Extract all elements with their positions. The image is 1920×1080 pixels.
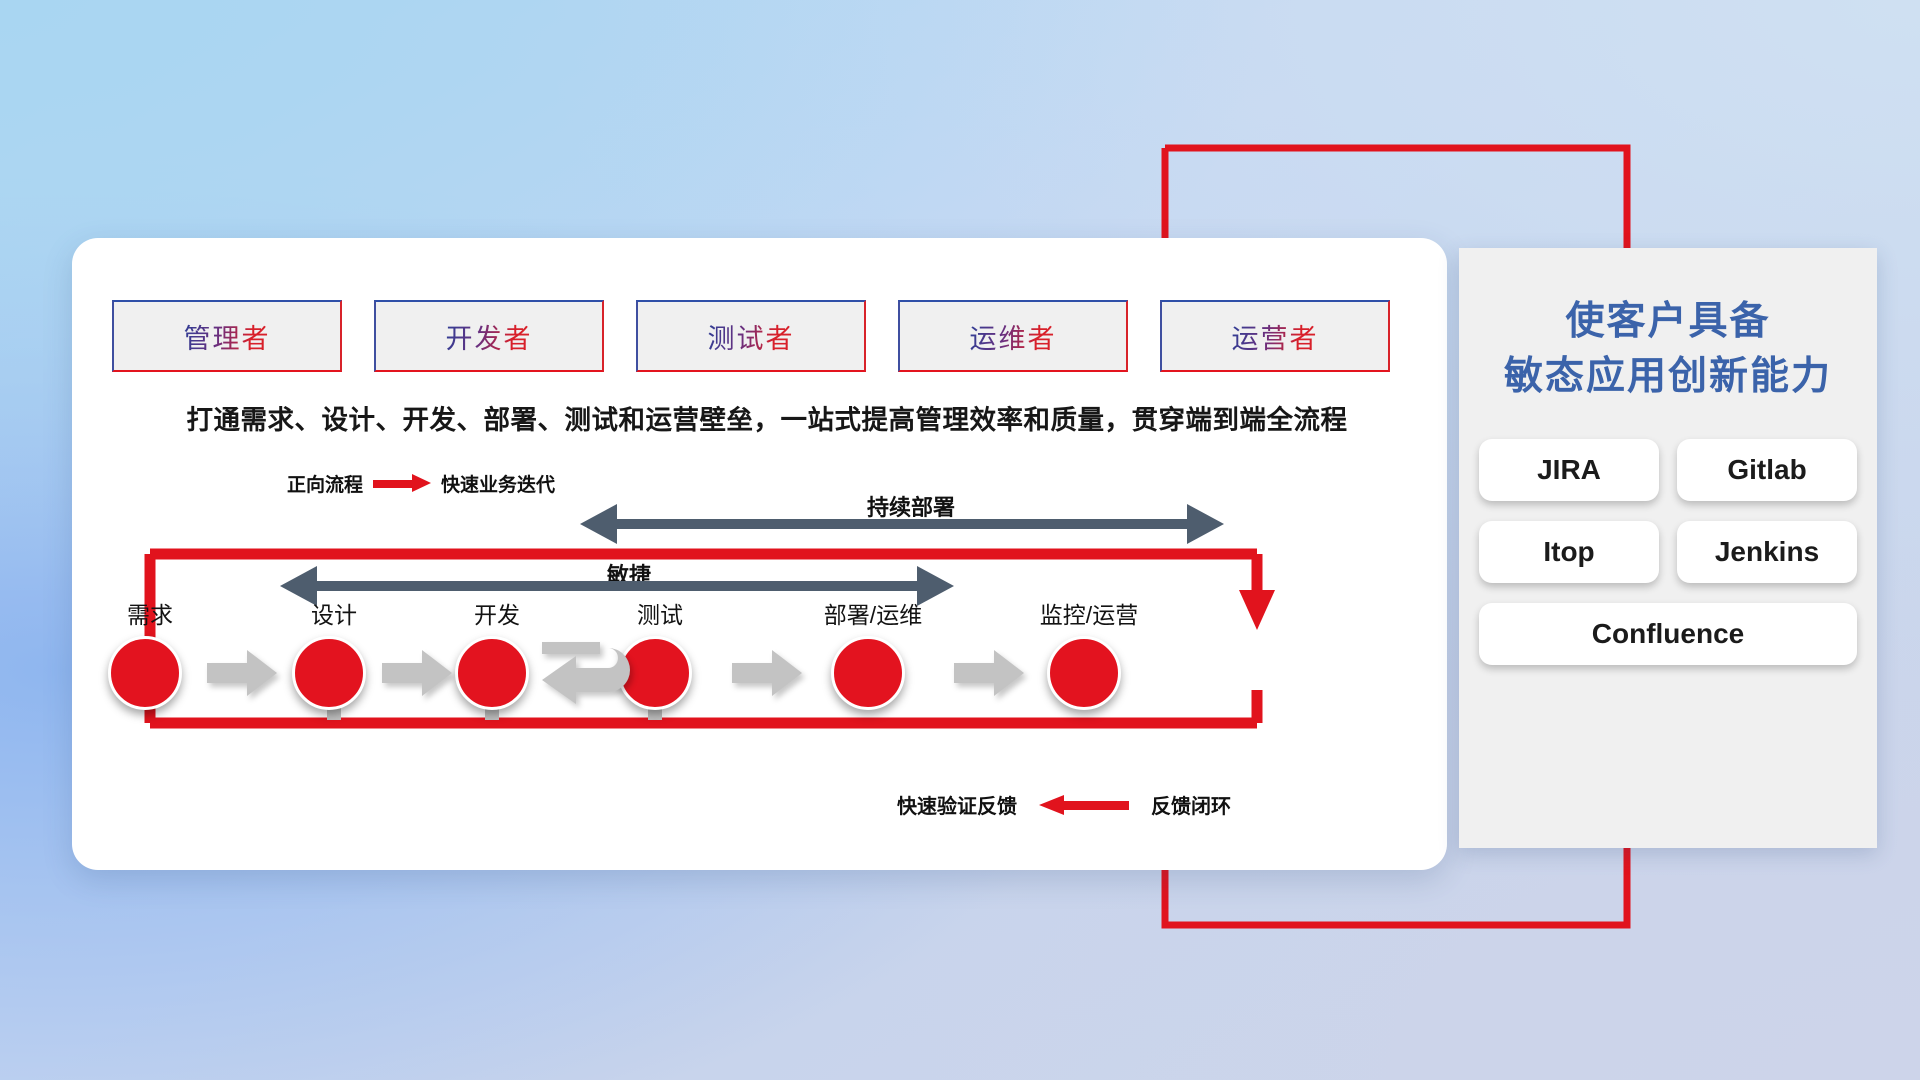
arrow-chevron-right-icon [382,650,452,696]
panel-title-line2: 敏态应用创新能力 [1459,349,1877,404]
arrow-chevron-right-icon [954,650,1024,696]
pipeline-node-row: 需求 设计 开发 测试 部署/运维 监控/运营 [72,238,1447,870]
pipeline-node-label: 需求 [127,596,173,630]
tool-chip-jira[interactable]: JIRA [1479,439,1659,501]
pipeline-node-develop[interactable]: 开发 [455,636,539,710]
pipeline-node-label: 监控/运营 [1040,596,1138,630]
right-panel: 使客户具备 敏态应用创新能力 JIRA Gitlab Itop Jenkins … [1459,248,1877,848]
tool-chip-confluence[interactable]: Confluence [1479,603,1857,665]
arrow-chevron-right-icon [207,650,277,696]
node-dot [455,636,529,710]
pipeline-node-requirement[interactable]: 需求 [108,636,192,710]
arrow-chevron-right-icon [732,650,802,696]
tool-chip-jenkins[interactable]: Jenkins [1677,521,1857,583]
pipeline-node-deploy-ops[interactable]: 部署/运维 [831,636,915,710]
pipeline-node-label: 开发 [474,596,520,630]
panel-title-line1: 使客户具备 [1459,294,1877,349]
pipeline-node-design[interactable]: 设计 [292,636,376,710]
pipeline-node-label: 部署/运维 [824,596,922,630]
main-card: 管理者 开发者 测试者 运维者 运营者 打通需求、设计、开发、部署、测试和运营壁… [72,238,1447,870]
iteration-loop-arrow-icon [538,634,646,722]
slide-canvas: 管理者 开发者 测试者 运维者 运营者 打通需求、设计、开发、部署、测试和运营壁… [0,0,1920,1080]
tool-chip-itop[interactable]: Itop [1479,521,1659,583]
pipeline-node-label: 测试 [637,596,683,630]
node-dot [292,636,366,710]
node-dot [108,636,182,710]
pipeline-node-monitor-operations[interactable]: 监控/运营 [1047,636,1131,710]
tool-chip-gitlab[interactable]: Gitlab [1677,439,1857,501]
node-dot [1047,636,1121,710]
panel-title: 使客户具备 敏态应用创新能力 [1459,294,1877,405]
tool-chip-list: JIRA Gitlab Itop Jenkins Confluence [1459,439,1877,665]
node-dot [831,636,905,710]
pipeline-node-label: 设计 [311,596,357,630]
